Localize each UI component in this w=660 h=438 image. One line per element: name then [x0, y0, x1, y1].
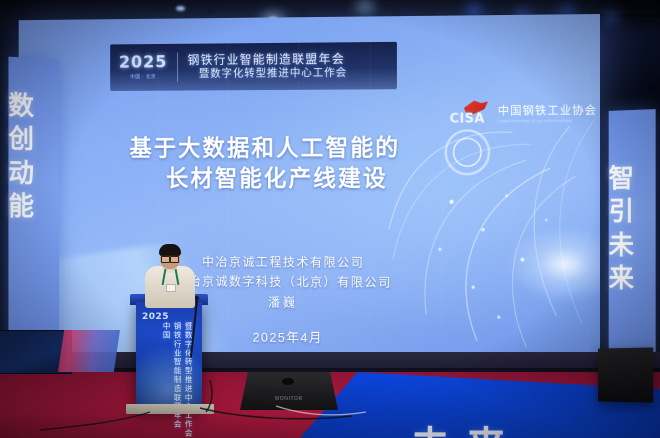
event-year-logo: 2025 中国 · 北京: [116, 55, 171, 81]
podium-vertical-text-3: 中国: [161, 322, 171, 340]
header-divider: [177, 53, 178, 82]
banner-left: 数创动能: [8, 57, 59, 370]
cisa-letters: CISA: [450, 112, 485, 127]
cisa-emblem-icon: CISA: [450, 101, 493, 129]
banner-left-text: 数创动能: [8, 89, 59, 223]
banner-right-text: 智引未来: [609, 161, 656, 295]
event-title-line1: 钢铁行业智能制造联盟年会: [188, 53, 348, 67]
event-header-band: 2025 中国 · 北京 钢铁行业智能制造联盟年会 暨数字化转型推进中心工作会: [110, 42, 397, 91]
floor-cables: [0, 360, 660, 438]
event-year-sub: 中国 · 北京: [130, 73, 156, 80]
speaker-person: [143, 246, 197, 306]
slide-title-line1: 基于大数据和人工智能的: [130, 135, 401, 161]
led-presentation-screen: 2025 中国 · 北京 钢铁行业智能制造联盟年会 暨数字化转型推进中心工作会 …: [19, 14, 600, 358]
association-name-cn: 中国钢铁工业协会: [498, 105, 597, 117]
slide-organizations: 中冶京诚工程技术有限公司 中冶京诚数字科技（北京）有限公司 潘巍: [19, 252, 556, 315]
slide-title: 基于大数据和人工智能的 长材智能化产线建设: [19, 132, 517, 194]
name-badge: [166, 284, 176, 292]
association-logo: CISA 中国钢铁工业协会 CHINA IRON AND STEEL ASSOC…: [450, 100, 597, 129]
podium-year: 2025: [142, 312, 169, 322]
association-name-en: CHINA IRON AND STEEL ASSOCIATION: [498, 119, 597, 123]
event-title-line2: 暨数字化转型推进中心工作会: [188, 68, 348, 80]
led-screen-wrap: 2025 中国 · 北京 钢铁行业智能制造联盟年会 暨数字化转型推进中心工作会 …: [0, 6, 660, 358]
banner-right: 智引未来: [609, 109, 656, 371]
presenter-name: 潘巍: [19, 291, 556, 315]
glasses-icon: [161, 255, 179, 260]
conference-stage-photo: 2025 中国 · 北京 钢铁行业智能制造联盟年会 暨数字化转型推进中心工作会 …: [0, 0, 660, 438]
slide-title-line2: 长材智能化产线建设: [19, 163, 517, 194]
event-year: 2025: [119, 55, 167, 72]
